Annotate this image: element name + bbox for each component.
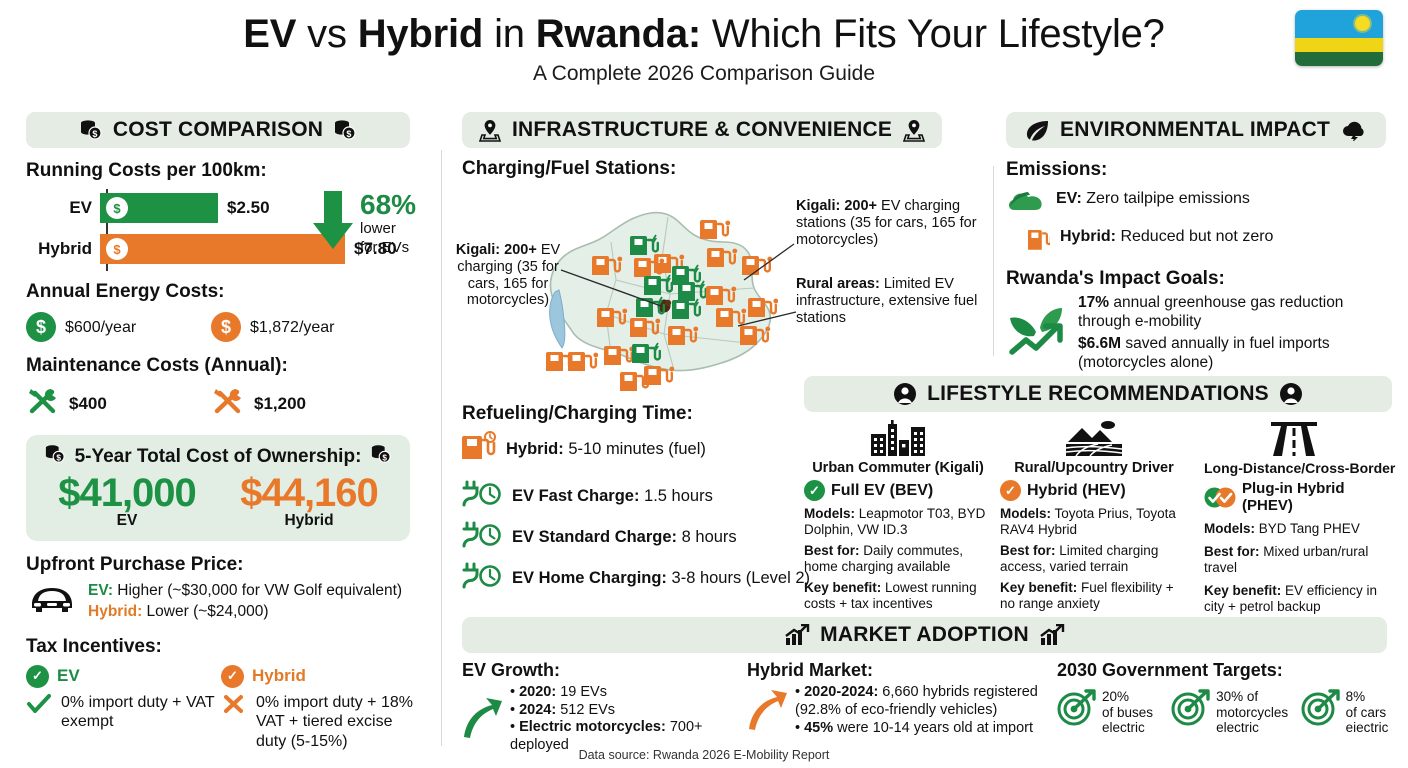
government-targets-block: 2030 Government Targets: 20% of buses el… [1057, 660, 1397, 735]
refuel-hybrid-text: Hybrid: 5-10 minutes (fuel) [506, 440, 706, 459]
environmental-band-label: ENVIRONMENTAL IMPACT [1060, 118, 1330, 142]
savings-callout: 68% lower for EVs [312, 191, 422, 258]
ev-growth-3-bold: Electric motorcycles: [519, 719, 666, 735]
lifestyle-rural-rec-label: Hybrid (HEV) [1027, 482, 1126, 500]
person-circle-icon [893, 382, 917, 406]
bar-hybrid: $ [100, 234, 345, 264]
tco-hybrid: $44,160 Hybrid [218, 472, 400, 530]
hybrid-market-title: Hybrid Market: [747, 660, 1057, 681]
map-note-right-kigali-bold: Kigali: 200+ [796, 198, 877, 214]
lifestyle-longdistance-bestfor-key: Best for: [1204, 544, 1260, 559]
tax-columns: ✓ EV 0% import duty + VAT exempt ✓ Hybri… [26, 665, 416, 752]
target-bullseye-icon [1057, 689, 1097, 732]
plug-clock-icon [462, 480, 502, 513]
energy-ev: $ $600/year [26, 312, 211, 342]
lifestyle-rural-benefit-key: Key benefit: [1000, 580, 1077, 595]
upfront-hybrid-key: Hybrid: [88, 603, 142, 620]
tax-hybrid-label: Hybrid [252, 666, 306, 686]
green-check-circle-icon: ✓ [804, 480, 825, 501]
lifestyle-columns: Urban Commuter (Kigali) ✓ Full EV (BEV) … [804, 420, 1392, 615]
map-note-rural-bold: Rural areas: [796, 276, 880, 292]
infographic-page: EV vs Hybrid in Rwanda: Which Fits Your … [0, 0, 1408, 768]
refuel-hybrid-rest: 5-10 minutes (fuel) [564, 440, 706, 458]
check-mark-green-icon [26, 693, 52, 720]
energy-ev-value: $600 [65, 319, 101, 336]
orange-check-circle-icon: ✓ [1000, 480, 1021, 501]
energy-hybrid: $ $1,872/year [211, 312, 335, 342]
upfront-price-block: Upfront Purchase Price: EV: Higher (~$30… [26, 554, 416, 622]
market-adoption-band-label: MARKET ADOPTION [820, 623, 1029, 647]
cost-comparison-section: $ COST COMPARISON $ Running Costs per 10… [26, 112, 416, 751]
hybrid-market-2-bold: 45% [804, 720, 833, 736]
ev-growth-item-2: • 2024: 512 EVs [510, 702, 752, 720]
target-cars-pct-row: 8% [1346, 685, 1397, 705]
tax-col-ev: ✓ EV 0% import duty + VAT exempt [26, 665, 221, 752]
fuel-pump-clock-icon [462, 431, 496, 468]
energy-hybrid-value: $1,872 [250, 319, 299, 336]
target-motorcycles-desc: motorcycles electric [1216, 705, 1290, 735]
page-title: EV vs Hybrid in Rwanda: Which Fits Your … [0, 12, 1408, 57]
lifestyle-urban-benefit-key: Key benefit: [804, 580, 881, 595]
orange-up-arrow-icon [747, 687, 789, 736]
green-up-arrow-icon [462, 695, 504, 744]
tax-ev-head: ✓ EV [26, 665, 221, 688]
maintenance-hybrid-value: $1,200 [254, 394, 306, 414]
lifestyle-rural-bestfor-key: Best for: [1000, 543, 1056, 558]
maintenance-ev-value: $400 [69, 394, 107, 414]
market-columns: EV Growth: • 2020: 19 EVs • 2024: 512 EV… [462, 660, 1392, 740]
tax-hybrid-head: ✓ Hybrid [221, 665, 416, 688]
environmental-band: ENVIRONMENTAL IMPACT [1006, 112, 1386, 148]
cross-mark-orange-icon [221, 693, 247, 720]
energy-ev-suffix: /year [101, 319, 137, 336]
ev-growth-item-1: • 2020: 19 EVs [510, 684, 752, 702]
tco-ev: $41,000 EV [36, 472, 218, 530]
lifestyle-longdistance-models-key: Models: [1204, 521, 1255, 536]
fuel-pump-orange-icon [1028, 226, 1050, 257]
emissions-ev: EV: Zero tailpipe emissions [1006, 188, 1390, 219]
check-circle-green-icon: ✓ [26, 665, 49, 688]
bar-value-ev: $2.50 [227, 198, 270, 218]
hybrid-market-1-bold: 2020-2024: [804, 684, 878, 700]
upfront-hybrid-line: Hybrid: Lower (~$24,000) [88, 603, 402, 622]
lifestyle-urban-rec: ✓ Full EV (BEV) [804, 480, 992, 501]
maintenance-title: Maintenance Costs (Annual): [26, 355, 416, 377]
stations-title: Charging/Fuel Stations: [462, 158, 962, 180]
dollar-circle-green-icon: $ [26, 312, 56, 342]
lifestyle-rural-benefit: Key benefit: Fuel flexibility + no range… [1000, 580, 1188, 612]
hybrid-market-item-1: • 2020-2024: 6,660 hybrids registered (9… [795, 684, 1057, 719]
growth-chart-icon-2 [1039, 624, 1065, 646]
emissions-hybrid-bold: Hybrid: [1060, 228, 1116, 245]
lifestyle-band-label: LIFESTYLE RECOMMENDATIONS [927, 382, 1269, 406]
upfront-ev-key: EV: [88, 582, 113, 599]
dollar-circle-orange-icon: $ [211, 312, 241, 342]
emissions-ev-text: EV: Zero tailpipe emissions [1056, 188, 1250, 208]
target-motorcycles-pct: 30% [1216, 689, 1243, 704]
divider-left [441, 150, 442, 746]
hybrid-market-body: • 2020-2024: 6,660 hybrids registered (9… [747, 684, 1057, 738]
upfront-ev-line: EV: Higher (~$30,000 for VW Golf equival… [88, 582, 402, 601]
farm-field-icon [1000, 420, 1188, 456]
svg-text:$: $ [383, 453, 388, 462]
target-cars: 8% of cars eiectric [1301, 685, 1397, 735]
check-circle-orange-icon: ✓ [221, 665, 244, 688]
ev-growth-list: • 2020: 19 EVs • 2024: 512 EVs • Electri… [510, 684, 752, 755]
car-icon [26, 582, 78, 621]
tco-header: $ 5-Year Total Cost of Ownership: $ [36, 444, 400, 470]
maintenance-row: $400 $1,200 [26, 386, 416, 421]
infrastructure-band-label: INFRASTRUCTURE & CONVENIENCE [512, 118, 892, 142]
coins-icon: $ [79, 119, 103, 141]
lifestyle-rural-title: Rural/Upcountry Driver [1000, 460, 1188, 476]
refuel-home-text: EV Home Charging: 3-8 hours (Level 2) [512, 569, 810, 588]
tco-hybrid-amount: $44,160 [218, 472, 400, 514]
ev-growth-block: EV Growth: • 2020: 19 EVs • 2024: 512 EV… [462, 660, 752, 755]
person-circle-icon-2 [1279, 382, 1303, 406]
refuel-standard-bold: EV Standard Charge: [512, 528, 677, 546]
goal-line-2: $6.6M saved annually in fuel imports (mo… [1078, 335, 1390, 372]
refuel-fast-bold: EV Fast Charge: [512, 487, 639, 505]
target-motorcycles-pct-row: 30% of [1216, 685, 1290, 705]
map-pin-icon [478, 118, 502, 142]
leaf-growth-arrow-icon [1006, 302, 1068, 365]
infrastructure-band: INFRASTRUCTURE & CONVENIENCE [462, 112, 942, 148]
lifestyle-longdistance-rec: Plug-in Hybrid (PHEV) [1204, 480, 1384, 514]
coins-icon-3: $ [44, 444, 66, 470]
maintenance-hybrid: $1,200 [211, 386, 306, 421]
savings-percent: 68% [360, 191, 416, 219]
leaf-icon [1024, 119, 1050, 141]
tax-hybrid-body: 0% import duty + 18% VAT + tiered excise… [221, 693, 416, 752]
lifestyle-rural-models-key: Models: [1000, 506, 1051, 521]
data-source-note: Data source: Rwanda 2026 E-Mobility Repo… [0, 748, 1408, 762]
target-cars-pct: 8% [1346, 689, 1366, 704]
lifestyle-rural-rec: ✓ Hybrid (HEV) [1000, 480, 1188, 501]
map-note-left-bold: Kigali: 200+ [456, 242, 537, 258]
lifestyle-col-longdistance: Long-Distance/Cross-Border Plug-in Hybri… [1196, 420, 1392, 615]
ev-growth-2-bold: 2024: [519, 702, 556, 718]
lifestyle-urban-rec-label: Full EV (BEV) [831, 482, 933, 500]
refuel-home-bold: EV Home Charging: [512, 569, 667, 587]
upfront-ev-text: Higher (~$30,000 for VW Golf equivalent) [113, 582, 402, 599]
emissions-hybrid-rest: Reduced but not zero [1116, 228, 1273, 245]
lifestyle-longdistance-rec-label: Plug-in Hybrid (PHEV) [1242, 480, 1384, 514]
energy-hybrid-suffix: /year [299, 319, 335, 336]
coins-icon-2: $ [333, 119, 357, 141]
map-pin-icon-2 [902, 118, 926, 142]
chart-row-ev: EV $ $2.50 [26, 193, 270, 223]
tax-title: Tax Incentives: [26, 636, 416, 658]
down-arrow-icon [312, 191, 354, 258]
lifestyle-urban-title: Urban Commuter (Kigali) [804, 460, 992, 476]
cloud-lightning-icon [1340, 119, 1368, 141]
emissions-hybrid: Hybrid: Reduced but not zero [1028, 226, 1390, 257]
ev-growth-title: EV Growth: [462, 660, 752, 681]
emissions-hybrid-text: Hybrid: Reduced but not zero [1060, 226, 1273, 246]
cost-comparison-band: $ COST COMPARISON $ [26, 112, 410, 148]
tax-col-hybrid: ✓ Hybrid 0% import duty + 18% VAT + tier… [221, 665, 416, 752]
upfront-hybrid-text: Lower (~$24,000) [142, 603, 268, 620]
lifestyle-longdistance-benefit: Key benefit: EV efficiency in city + pet… [1204, 583, 1384, 615]
tco-ev-amount: $41,000 [36, 472, 218, 514]
annual-energy-title: Annual Energy Costs: [26, 281, 416, 303]
wrench-green-icon [26, 386, 60, 421]
tco-title: 5-Year Total Cost of Ownership: [75, 446, 362, 468]
map-note-rural: Rural areas: Limited EV infrastructure, … [796, 276, 986, 326]
tax-ev-text: 0% import duty + VAT exempt [61, 693, 221, 732]
lifestyle-urban-bestfor-key: Best for: [804, 543, 860, 558]
upfront-rows: EV: Higher (~$30,000 for VW Golf equival… [26, 582, 416, 622]
hybrid-market-block: Hybrid Market: • 2020-2024: 6,660 hybrid… [747, 660, 1057, 738]
target-buses: 20% of buses electric [1057, 685, 1161, 735]
ev-growth-body: • 2020: 19 EVs • 2024: 512 EVs • Electri… [462, 684, 752, 755]
lifestyle-longdistance-models: Models: BYD Tang PHEV [1204, 521, 1384, 537]
hybrid-market-2-rest: were 10-14 years old at import [833, 720, 1033, 736]
city-buildings-icon [804, 420, 992, 456]
refuel-fast-text: EV Fast Charge: 1.5 hours [512, 487, 713, 506]
tax-hybrid-text: 0% import duty + 18% VAT + tiered excise… [256, 693, 416, 752]
dollar-coin-icon-2: $ [106, 238, 128, 260]
upfront-title: Upfront Purchase Price: [26, 554, 416, 576]
target-motorcycles: 30% of motorcycles electric [1171, 685, 1290, 735]
lifestyle-band: LIFESTYLE RECOMMENDATIONS [804, 376, 1392, 412]
goal-2-bold: $6.6M [1078, 335, 1121, 352]
goal-line-1: 17% annual greenhouse gas reduction thro… [1078, 294, 1390, 331]
cost-comparison-band-label: COST COMPARISON [113, 118, 323, 142]
wrench-orange-icon [211, 386, 245, 421]
target-buses-desc: of buses electric [1102, 705, 1161, 735]
dual-check-circle-icon [1204, 487, 1236, 508]
map-note-left: Kigali: 200+ EV charging (35 for cars, 1… [450, 242, 566, 309]
goal-1-bold: 17% [1078, 294, 1109, 311]
target-bullseye-icon-2 [1171, 689, 1211, 732]
emissions-ev-rest: Zero tailpipe emissions [1082, 190, 1250, 207]
goal-1-rest: annual greenhouse gas reduction through … [1078, 294, 1343, 330]
goals-lines: 17% annual greenhouse gas reduction thro… [1078, 294, 1390, 372]
running-costs-title: Running Costs per 100km: [26, 160, 416, 182]
savings-line2: for EVs [360, 240, 416, 257]
running-costs-chart: EV $ $2.50 Hybrid $ $7.80 68% lo [26, 189, 416, 271]
savings-line1: lower [360, 221, 416, 238]
header: EV vs Hybrid in Rwanda: Which Fits Your … [0, 0, 1408, 100]
leaf-cloud-green-icon [1006, 188, 1046, 219]
target-cars-desc: of cars eiectric [1346, 705, 1397, 735]
growth-chart-icon [784, 624, 810, 646]
bar-ev: $ [100, 193, 218, 223]
tco-values: $41,000 EV $44,160 Hybrid [36, 472, 400, 530]
bar-label-ev: EV [26, 198, 100, 218]
ev-growth-1-rest: 19 EVs [556, 684, 607, 700]
lifestyle-col-urban: Urban Commuter (Kigali) ✓ Full EV (BEV) … [804, 420, 1000, 615]
goals-body: 17% annual greenhouse gas reduction thro… [1006, 294, 1390, 372]
lifestyle-col-rural: Rural/Upcountry Driver ✓ Hybrid (HEV) Mo… [1000, 420, 1196, 615]
emissions-ev-bold: EV: [1056, 190, 1082, 207]
lifestyle-urban-models-key: Models: [804, 506, 855, 521]
environmental-impact-section: ENVIRONMENTAL IMPACT Emissions: EV: Zero… [1006, 112, 1390, 372]
tax-ev-label: EV [57, 666, 80, 686]
lifestyle-recommendations-section: LIFESTYLE RECOMMENDATIONS Urban Commuter… [804, 376, 1392, 615]
lifestyle-urban-models: Models: Leapmotor T03, BYD Dolphin, VW I… [804, 506, 992, 538]
page-subtitle: A Complete 2026 Comparison Guide [0, 62, 1408, 86]
ev-growth-1-bold: 2020: [519, 684, 556, 700]
lifestyle-longdistance-models-val: BYD Tang PHEV [1255, 521, 1360, 536]
market-adoption-band: MARKET ADOPTION [462, 617, 1387, 653]
target-buses-pct-row: 20% [1102, 685, 1161, 705]
refuel-fast-rest: 1.5 hours [639, 487, 712, 505]
lifestyle-rural-bestfor: Best for: Limited charging access, varie… [1000, 543, 1188, 575]
refuel-standard-rest: 8 hours [677, 528, 737, 546]
lifestyle-longdistance-bestfor: Best for: Mixed urban/rural travel [1204, 544, 1384, 576]
refuel-hybrid-bold: Hybrid: [506, 440, 564, 458]
goals-title: Rwanda's Impact Goals: [1006, 268, 1390, 290]
divider-right [993, 166, 994, 356]
annual-energy-row: $ $600/year $ $1,872/year [26, 312, 416, 342]
target-motorcycles-of: of [1243, 689, 1258, 704]
plug-clock-icon-3 [462, 562, 502, 595]
refuel-home-rest: 3-8 hours (Level 2) [667, 569, 810, 587]
targets-title: 2030 Government Targets: [1057, 660, 1397, 681]
target-buses-pct: 20% [1102, 689, 1129, 704]
market-adoption-section: MARKET ADOPTION EV Growth: • 2020: 19 EV… [462, 617, 1392, 740]
tco-card: $ 5-Year Total Cost of Ownership: $ $41,… [26, 435, 410, 541]
tax-incentives-block: Tax Incentives: ✓ EV 0% import duty + VA… [26, 636, 416, 752]
refuel-standard-text: EV Standard Charge: 8 hours [512, 528, 737, 547]
target-bullseye-icon-3 [1301, 689, 1341, 732]
impact-goals-block: Rwanda's Impact Goals: 17% annual greenh… [1006, 268, 1390, 372]
dollar-coin-icon: $ [106, 197, 128, 219]
maintenance-ev: $400 [26, 386, 211, 421]
lifestyle-rural-models: Models: Toyota Prius, Toyota RAV4 Hybrid [1000, 506, 1188, 538]
coins-icon-4: $ [370, 444, 392, 470]
lifestyle-longdistance-title: Long-Distance/Cross-Border [1204, 460, 1384, 476]
svg-text:$: $ [56, 453, 61, 462]
emissions-title: Emissions: [1006, 159, 1390, 181]
hybrid-market-list: • 2020-2024: 6,660 hybrids registered (9… [795, 684, 1057, 738]
highway-icon [1204, 420, 1384, 456]
lifestyle-urban-benefit: Key benefit: Lowest running costs + tax … [804, 580, 992, 612]
map-note-right-kigali: Kigali: 200+ EV charging stations (35 fo… [796, 198, 986, 248]
bar-label-hybrid: Hybrid [26, 239, 100, 259]
hybrid-market-item-2: • 45% were 10-14 years old at import [795, 720, 1057, 738]
plug-clock-icon-2 [462, 521, 502, 554]
tax-ev-body: 0% import duty + VAT exempt [26, 693, 221, 732]
ev-growth-2-rest: 512 EVs [556, 702, 615, 718]
targets-list: 20% of buses electric 30% of motorcycles… [1057, 685, 1397, 735]
lifestyle-urban-bestfor: Best for: Daily commutes, home charging … [804, 543, 992, 575]
rwanda-map: Kigali: 200+ EV charging (35 for cars, 1… [456, 184, 981, 399]
svg-text:$: $ [347, 129, 352, 139]
lifestyle-longdistance-benefit-key: Key benefit: [1204, 583, 1281, 598]
svg-text:$: $ [92, 129, 97, 139]
rwanda-flag-icon [1295, 10, 1383, 66]
